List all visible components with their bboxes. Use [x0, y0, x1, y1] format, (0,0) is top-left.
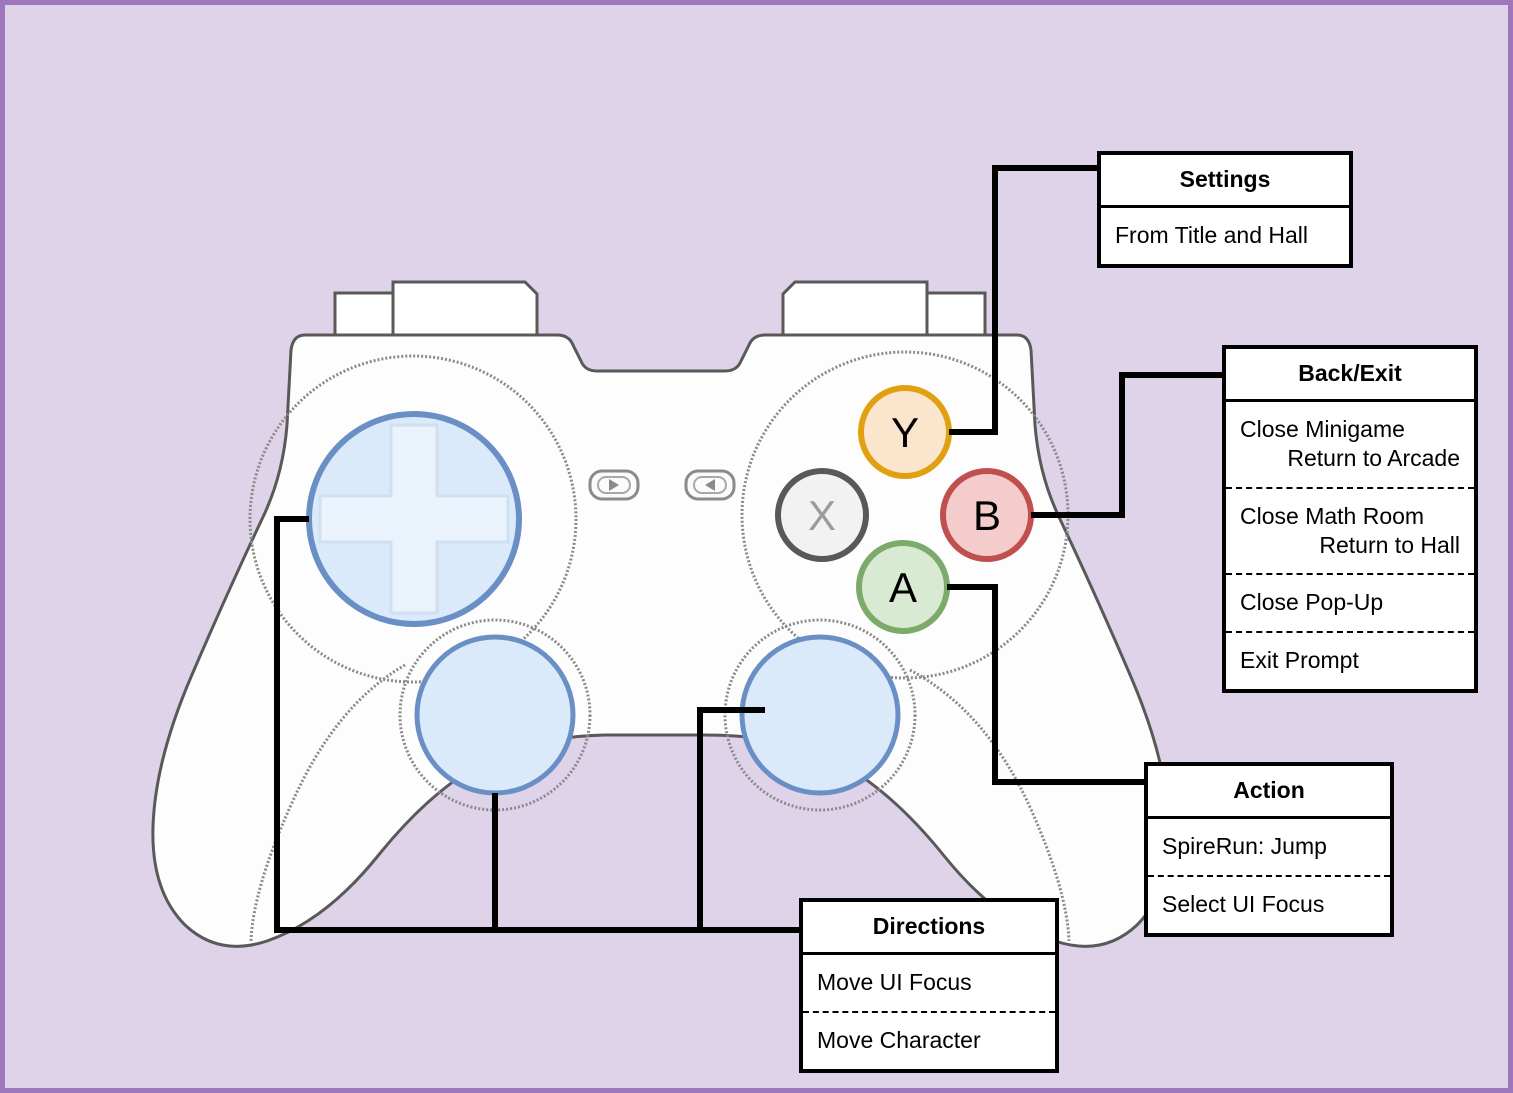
- callout-row-line1: Move Character: [817, 1027, 981, 1053]
- left-bumper[interactable]: [393, 282, 537, 335]
- callout-action: Action SpireRun: Jump Select UI Focus: [1144, 762, 1394, 937]
- callout-row: Close Math Room Return to Hall: [1226, 489, 1474, 576]
- callout-row-line2: Return to Hall: [1240, 531, 1460, 560]
- callout-directions-body: Move UI Focus Move Character: [803, 955, 1055, 1069]
- callout-row-line1: Select UI Focus: [1162, 891, 1324, 917]
- diagram-canvas: Y X B A Settings From Title and Hall Bac…: [0, 0, 1513, 1093]
- callout-row-line2: Return to Arcade: [1240, 444, 1460, 473]
- right-trigger[interactable]: [923, 293, 985, 335]
- right-bumper[interactable]: [783, 282, 927, 335]
- callout-row-line1: Move UI Focus: [817, 969, 972, 995]
- dpad[interactable]: [309, 414, 519, 624]
- callout-row: Close Pop-Up: [1226, 575, 1474, 633]
- callout-row: Exit Prompt: [1226, 633, 1474, 689]
- callout-back-exit-title: Back/Exit: [1226, 349, 1474, 402]
- callout-settings-title: Settings: [1101, 155, 1349, 208]
- controller-body: [153, 335, 1169, 946]
- callout-row-line1: Close Math Room: [1240, 503, 1424, 529]
- callout-action-title: Action: [1148, 766, 1390, 819]
- callout-directions: Directions Move UI Focus Move Character: [799, 898, 1059, 1073]
- button-x-label: X: [808, 495, 836, 537]
- callout-row: Close Minigame Return to Arcade: [1226, 402, 1474, 489]
- select-button[interactable]: [590, 471, 638, 499]
- button-a-label: A: [889, 567, 917, 609]
- callout-back-exit: Back/Exit Close Minigame Return to Arcad…: [1222, 345, 1478, 693]
- callout-directions-title: Directions: [803, 902, 1055, 955]
- right-analog-stick[interactable]: [742, 637, 898, 793]
- left-trigger[interactable]: [335, 293, 397, 335]
- callout-action-body: SpireRun: Jump Select UI Focus: [1148, 819, 1390, 933]
- button-b-label: B: [973, 495, 1001, 537]
- callout-settings-body: From Title and Hall: [1101, 208, 1349, 264]
- callout-row-line1: Close Pop-Up: [1240, 589, 1383, 615]
- callout-row-line1: Close Minigame: [1240, 416, 1405, 442]
- callout-row: SpireRun: Jump: [1148, 819, 1390, 877]
- callout-row: Select UI Focus: [1148, 877, 1390, 933]
- callout-row: Move UI Focus: [803, 955, 1055, 1013]
- callout-row-line1: Exit Prompt: [1240, 647, 1359, 673]
- callout-row: Move Character: [803, 1013, 1055, 1069]
- callout-settings: Settings From Title and Hall: [1097, 151, 1353, 268]
- button-y-label: Y: [891, 412, 919, 454]
- callout-row-line1: SpireRun: Jump: [1162, 833, 1327, 859]
- start-button[interactable]: [686, 471, 734, 499]
- callout-back-exit-body: Close Minigame Return to Arcade Close Ma…: [1226, 402, 1474, 689]
- callout-row-line1: From Title and Hall: [1115, 222, 1308, 248]
- left-analog-stick[interactable]: [417, 637, 573, 793]
- callout-row: From Title and Hall: [1101, 208, 1349, 264]
